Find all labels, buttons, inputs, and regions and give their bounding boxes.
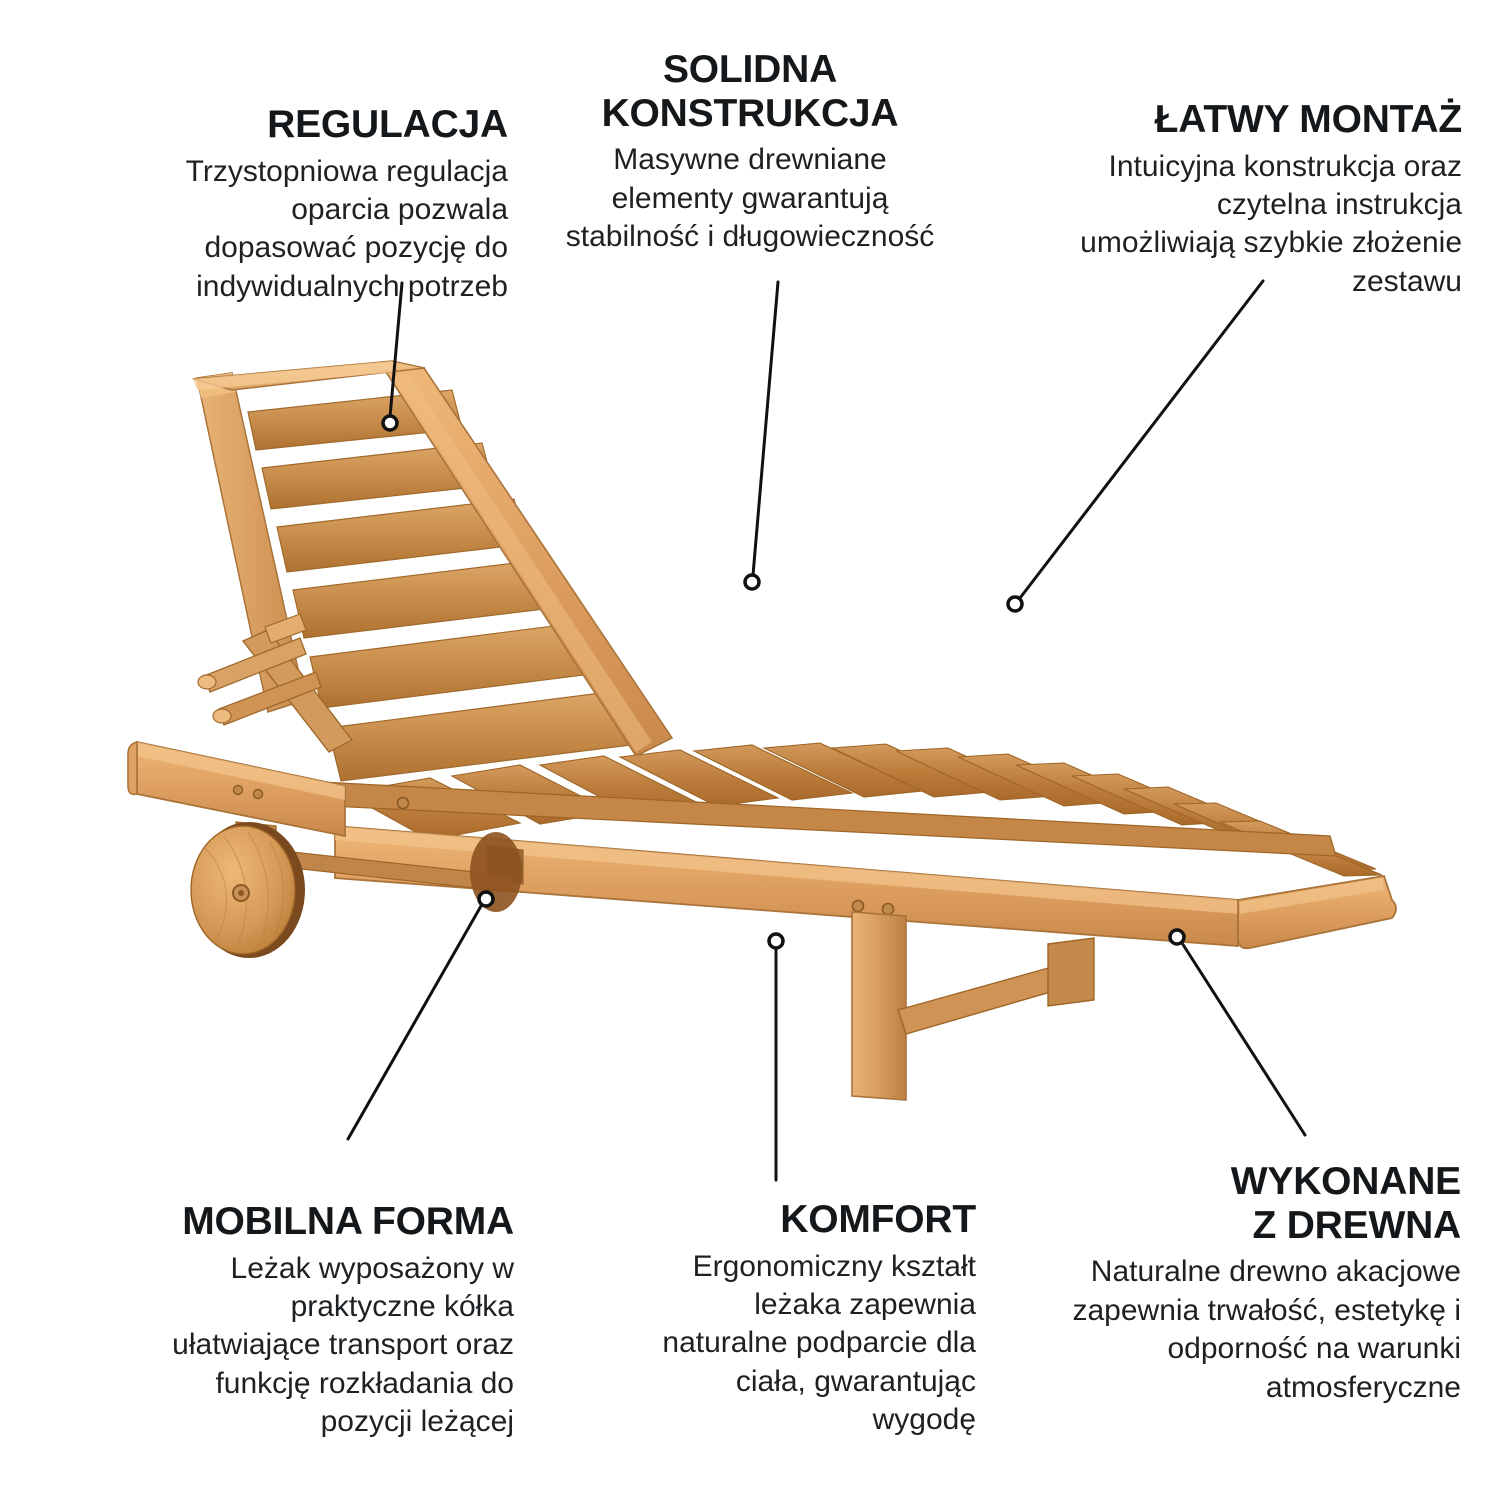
feature-mobilna-forma: MOBILNA FORMA Leżak wyposażony w praktyc… — [110, 1200, 514, 1442]
feature-latwy-montaz-body: Intuicyjna konstrukcja oraz czytelna ins… — [1010, 148, 1462, 302]
backrest-assembly — [193, 361, 672, 781]
wheel-hub-center — [238, 890, 244, 896]
feature-regulacja-body: Trzystopniowa regulacja oparcia pozwala … — [108, 153, 508, 307]
rear-foot-block — [1048, 938, 1094, 1006]
feature-wykonane-z-drewna-body: Naturalne drewno akacjowe zapewnia trwał… — [1005, 1253, 1461, 1407]
screw-head — [398, 798, 409, 809]
feature-latwy-montaz: ŁATWY MONTAŻ Intuicyjna konstrukcja oraz… — [1010, 98, 1462, 301]
screw-head — [234, 786, 243, 795]
feature-mobilna-forma-body: Leżak wyposażony w praktyczne kółka ułat… — [110, 1250, 514, 1442]
feature-latwy-montaz-title: ŁATWY MONTAŻ — [1010, 98, 1462, 142]
feature-komfort: KOMFORT Ergonomiczny kształt leżaka zape… — [596, 1198, 976, 1440]
infographic-page: REGULACJA Trzystopniowa regulacja oparci… — [0, 0, 1500, 1500]
backrest-slat — [310, 622, 599, 708]
feature-wykonane-z-drewna-title: WYKONANE Z DREWNA — [1005, 1160, 1461, 1247]
deck-rail-head-cap — [128, 742, 137, 794]
feature-mobilna-forma-title: MOBILNA FORMA — [110, 1200, 514, 1244]
recline-peg-lower — [213, 709, 231, 723]
screw-head — [883, 904, 894, 915]
screw-head — [254, 790, 263, 799]
front-leg — [852, 912, 906, 1100]
feature-regulacja-title: REGULACJA — [108, 103, 508, 147]
recline-peg-upper — [198, 675, 216, 689]
screw-head — [853, 901, 864, 912]
seat-deck — [128, 742, 1396, 1024]
feature-komfort-body: Ergonomiczny kształt leżaka zapewnia nat… — [596, 1248, 976, 1440]
feature-regulacja: REGULACJA Trzystopniowa regulacja oparci… — [108, 103, 508, 306]
feature-solidna-konstrukcja-body: Masywne drewniane elementy gwarantują st… — [520, 141, 980, 256]
backrest-rail-highlight — [392, 374, 652, 752]
feature-wykonane-z-drewna: WYKONANE Z DREWNA Naturalne drewno akacj… — [1005, 1160, 1461, 1407]
feature-solidna-konstrukcja: SOLIDNA KONSTRUKCJA Masywne drewniane el… — [520, 48, 980, 257]
feature-komfort-title: KOMFORT — [596, 1198, 976, 1242]
wheel-far — [470, 832, 522, 912]
feature-solidna-konstrukcja-title: SOLIDNA KONSTRUKCJA — [520, 48, 980, 135]
